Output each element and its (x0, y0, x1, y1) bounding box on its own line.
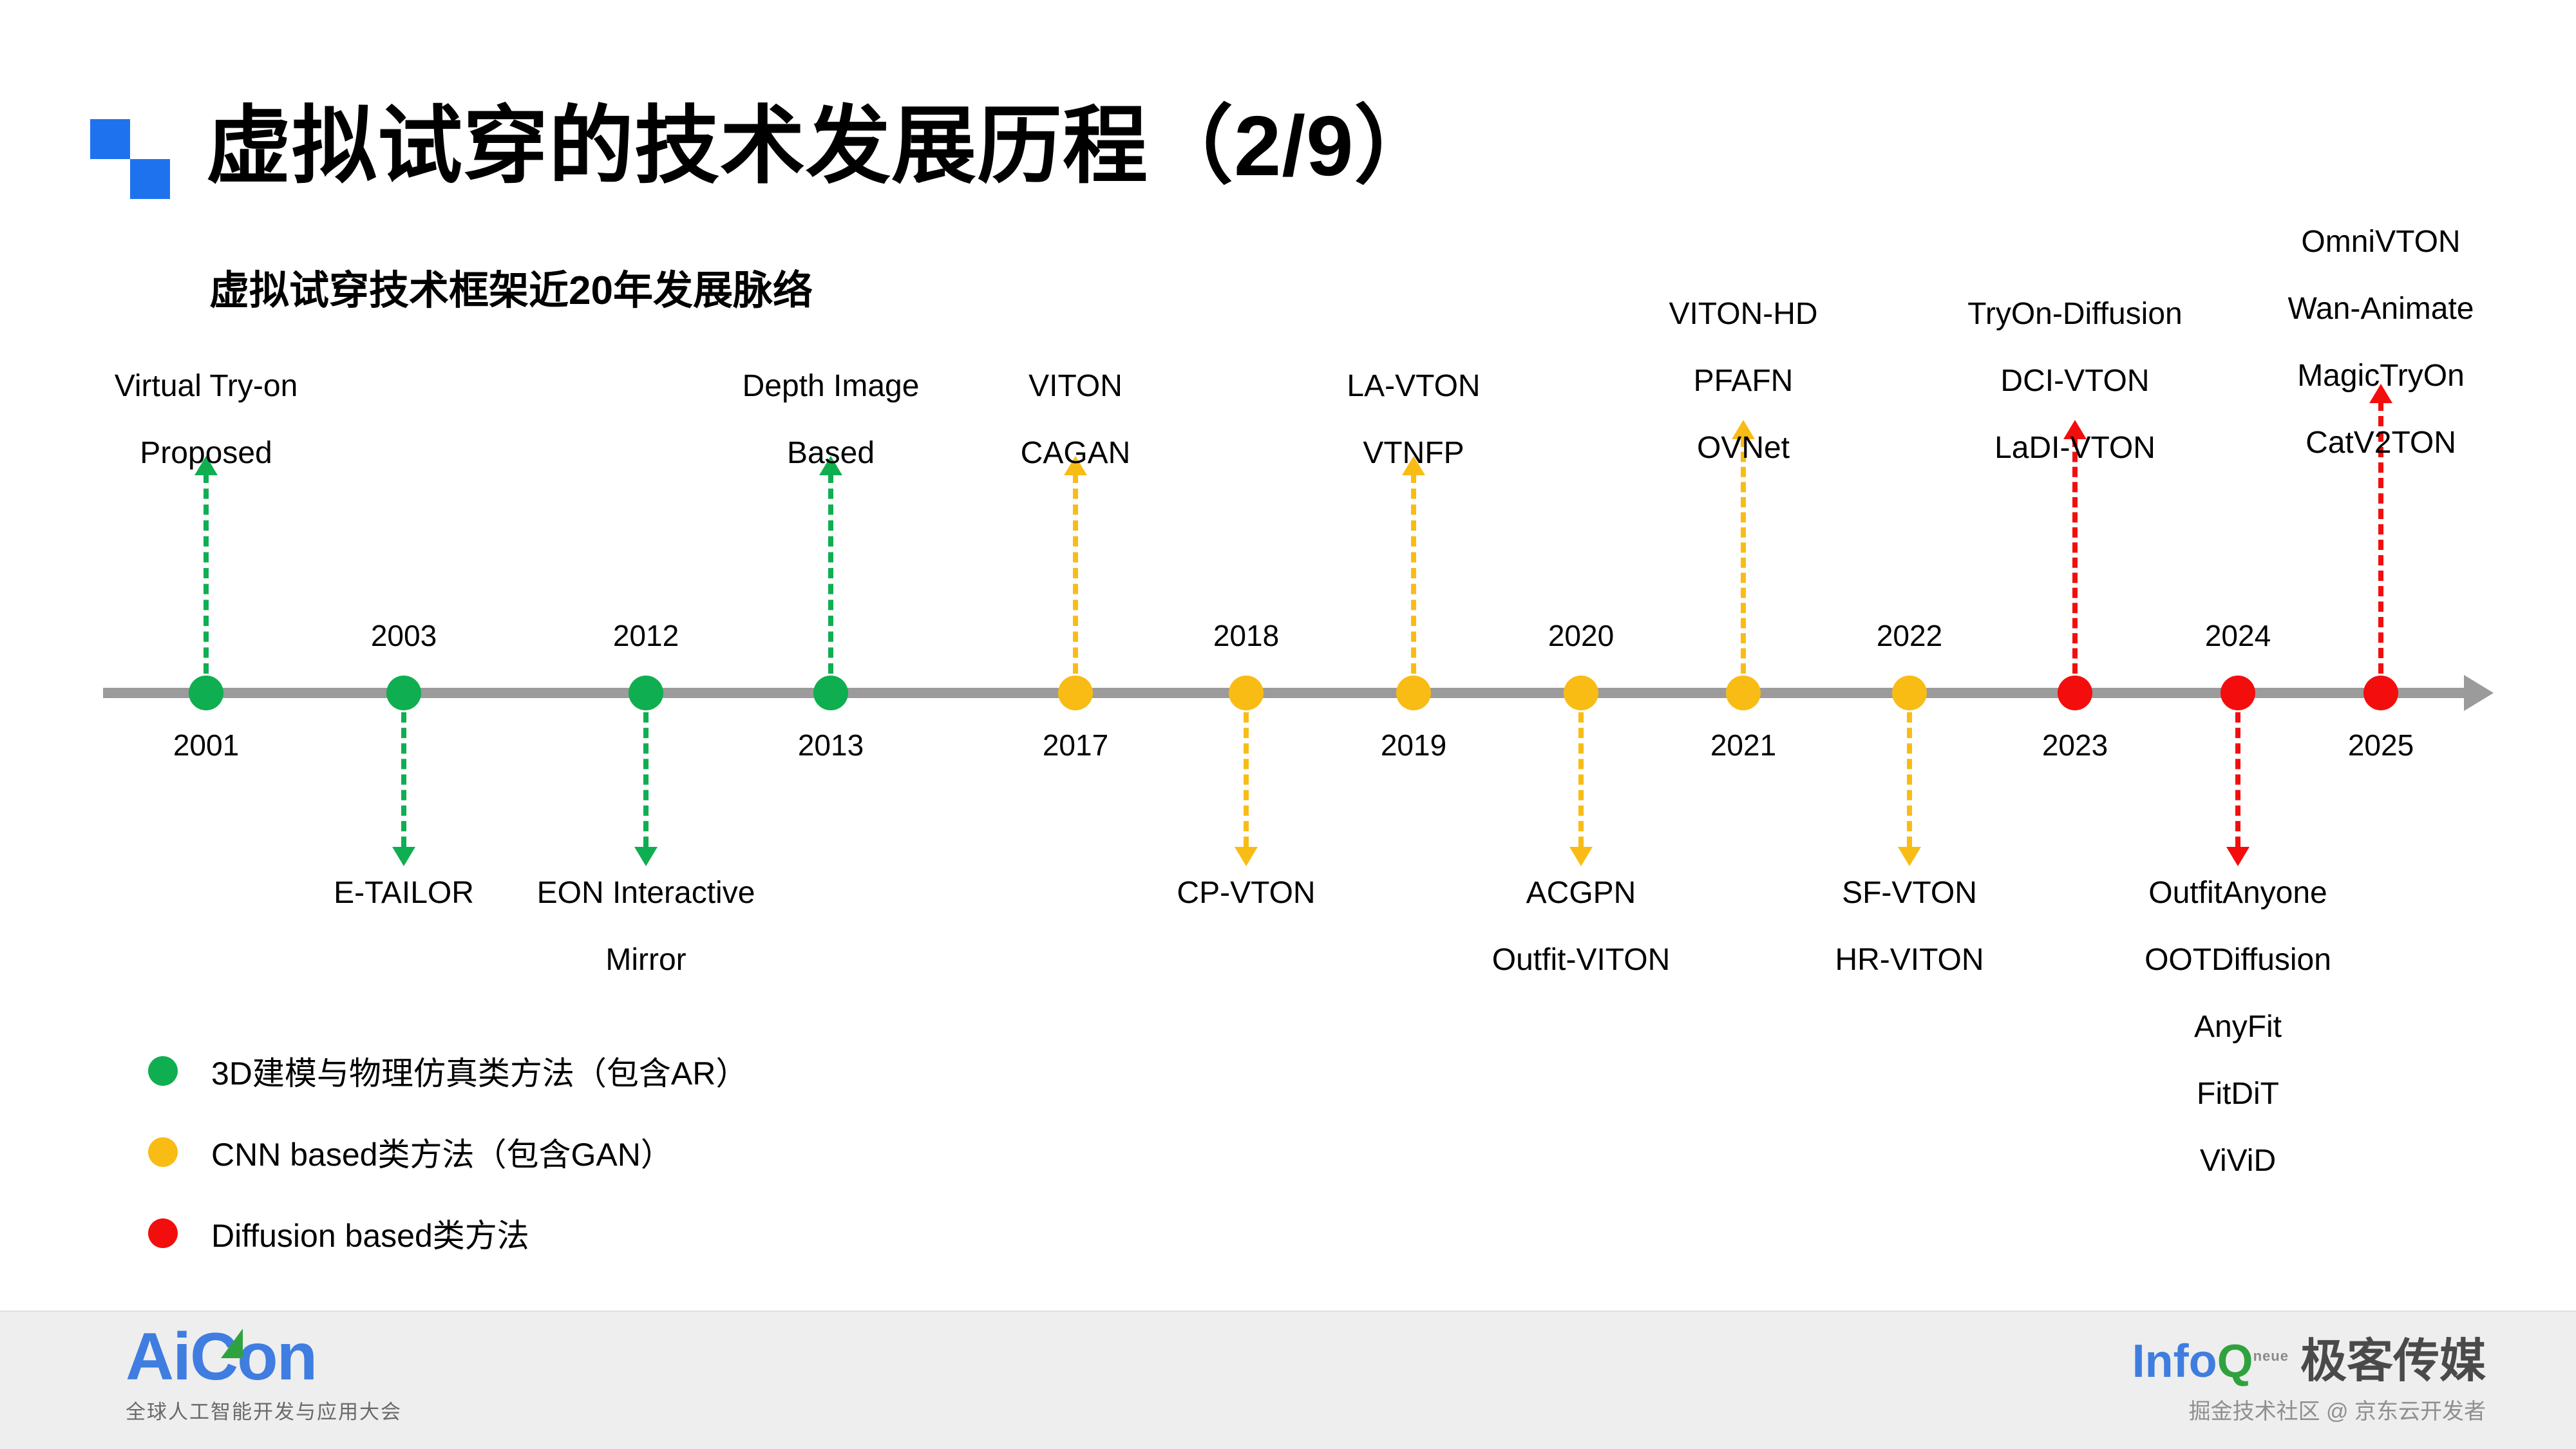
infoq-logo-cn-text: 极客传媒 (2300, 1336, 2486, 1387)
aicon-logo-text: AiCon (126, 1320, 316, 1394)
timeline-connector-up-2013 (828, 473, 833, 674)
timeline-connector-down-2018 (1244, 712, 1249, 847)
timeline-dot-2003[interactable] (386, 676, 421, 710)
infoq-logo-wordmark: InfoQneue极客传媒 (2132, 1338, 2486, 1385)
timeline-label-group-above-2013: Depth ImageBased (743, 371, 920, 469)
timeline-label: CP-VTON (1177, 878, 1315, 909)
timeline-arrowhead-down-2024 (2226, 847, 2249, 866)
infoq-logo-q-text: Q (2217, 1336, 2253, 1387)
timeline-year-label-2025: 2025 (2348, 728, 2414, 762)
timeline-label: VITON-HD (1669, 299, 1817, 330)
timeline-label: Depth Image (743, 371, 920, 402)
infoq-sub-caption: 掘金技术社区 @ 京东云开发者 (2132, 1394, 2486, 1425)
timeline-label-group-below-2003: E-TAILOR (334, 878, 474, 909)
legend-dot-red-icon (148, 1218, 178, 1248)
timeline-year-label-2021: 2021 (1710, 728, 1776, 762)
timeline-connector-down-2012 (643, 712, 649, 847)
timeline-label: HR-VITON (1835, 945, 1984, 976)
timeline-label: SF-VTON (1835, 878, 1984, 909)
timeline-year-label-2012: 2012 (613, 618, 679, 653)
timeline-arrowhead-down-2018 (1235, 847, 1258, 866)
timeline-connector-up-2017 (1073, 473, 1078, 674)
infoq-logo: InfoQneue极客传媒 掘金技术社区 @ 京东云开发者 (2132, 1338, 2486, 1425)
legend-label: 3D建模与物理仿真类方法（包含AR） (211, 1048, 748, 1094)
timeline-label-group-below-2024: OutfitAnyoneOOTDiffusionAnyFitFitDiTViVi… (2145, 878, 2331, 1177)
page-subtitle: 虚拟试穿技术框架近20年发展脉络 (209, 258, 813, 316)
timeline-label: Outfit-VITON (1492, 945, 1671, 976)
timeline-connector-down-2003 (401, 712, 406, 847)
timeline-label-group-above-2023: TryOn-DiffusionDCI-VTONLaDI-VTON (1967, 299, 2182, 464)
timeline-year-label-2019: 2019 (1381, 728, 1446, 762)
timeline-label-group-below-2022: SF-VTONHR-VITON (1835, 878, 1984, 976)
infoq-logo-superscript: neue (2253, 1348, 2289, 1364)
timeline-label-group-below-2012: EON InteractiveMirror (537, 878, 755, 976)
timeline-label: Proposed (115, 438, 298, 469)
timeline-dot-2017[interactable] (1058, 676, 1093, 710)
timeline-arrowhead-down-2012 (634, 847, 658, 866)
timeline-connector-down-2022 (1907, 712, 1912, 847)
timeline-label: E-TAILOR (334, 878, 474, 909)
aicon-logo: AiCon 全球人工智能开发与应用大会 (126, 1323, 402, 1425)
timeline-label: FitDiT (2145, 1079, 2331, 1110)
timeline-year-label-2003: 2003 (371, 618, 437, 653)
timeline-label-group-above-2025: OmniVTONWan-AnimateMagicTryOnCatV2TON (2288, 227, 2474, 459)
legend-item-green: 3D建模与物理仿真类方法（包含AR） (148, 1030, 748, 1112)
timeline-connector-up-2023 (2072, 437, 2078, 674)
timeline-label: OVNet (1669, 433, 1817, 464)
timeline-connector-down-2020 (1578, 712, 1584, 847)
timeline-label: LA-VTON (1347, 371, 1480, 402)
timeline-dot-2013[interactable] (813, 676, 848, 710)
timeline-label: OOTDiffusion (2145, 945, 2331, 976)
brand-square-logo-icon (90, 119, 174, 196)
timeline-year-label-2024: 2024 (2205, 618, 2271, 653)
timeline-label-group-below-2020: ACGPNOutfit-VITON (1492, 878, 1671, 976)
timeline-label-group-above-2019: LA-VTONVTNFP (1347, 371, 1480, 469)
aicon-tagline: 全球人工智能开发与应用大会 (126, 1396, 402, 1425)
logo-square-bottom (130, 159, 170, 199)
timeline-label-group-above-2021: VITON-HDPFAFNOVNet (1669, 299, 1817, 464)
timeline-label-group-above-2001: Virtual Try-onProposed (115, 371, 298, 469)
timeline-connector-up-2021 (1741, 437, 1746, 674)
legend: 3D建模与物理仿真类方法（包含AR）CNN based类方法（包含GAN）Dif… (148, 1030, 748, 1274)
timeline-year-label-2001: 2001 (173, 728, 239, 762)
slide-root: 虚拟试穿的技术发展历程（2/9） 虚拟试穿技术框架近20年发展脉络 2001Vi… (0, 0, 2576, 1449)
timeline-label: OmniVTON (2288, 227, 2474, 258)
timeline-year-label-2022: 2022 (1877, 618, 1942, 653)
timeline-label: PFAFN (1669, 366, 1817, 397)
timeline-label: Wan-Animate (2288, 294, 2474, 325)
timeline-label: VTNFP (1347, 438, 1480, 469)
timeline-label: CatV2TON (2288, 428, 2474, 459)
timeline-dot-2023[interactable] (2058, 676, 2092, 710)
timeline-dot-2020[interactable] (1564, 676, 1598, 710)
timeline-year-label-2017: 2017 (1043, 728, 1108, 762)
timeline-label: Virtual Try-on (115, 371, 298, 402)
timeline-connector-up-2019 (1411, 473, 1416, 674)
timeline-dot-2012[interactable] (629, 676, 663, 710)
timeline-dot-2024[interactable] (2221, 676, 2255, 710)
timeline-dot-2019[interactable] (1396, 676, 1431, 710)
timeline-arrowhead-down-2022 (1898, 847, 1921, 866)
timeline-label: DCI-VTON (1967, 366, 2182, 397)
timeline-axis-arrow-icon (2464, 675, 2494, 711)
legend-label: Diffusion based类方法 (211, 1210, 529, 1256)
timeline-label: Based (743, 438, 920, 469)
timeline-axis (103, 688, 2473, 698)
timeline-label: EON Interactive (537, 878, 755, 909)
legend-dot-green-icon (148, 1056, 178, 1086)
timeline-arrowhead-down-2003 (392, 847, 415, 866)
timeline-connector-up-2001 (204, 473, 209, 674)
page-title: 虚拟试穿的技术发展历程（2/9） (206, 77, 1440, 200)
timeline-label: MagicTryOn (2288, 361, 2474, 392)
timeline-label: CAGAN (1021, 438, 1131, 469)
timeline-label: ACGPN (1492, 878, 1671, 909)
aicon-logo-wordmark: AiCon (126, 1323, 402, 1390)
legend-dot-yellow-icon (148, 1137, 178, 1167)
timeline-label-group-below-2018: CP-VTON (1177, 878, 1315, 909)
timeline-dot-2018[interactable] (1229, 676, 1264, 710)
timeline-connector-down-2024 (2235, 712, 2240, 847)
timeline-label: TryOn-Diffusion (1967, 299, 2182, 330)
legend-item-red: Diffusion based类方法 (148, 1193, 748, 1274)
timeline-dot-2025[interactable] (2363, 676, 2398, 710)
legend-item-yellow: CNN based类方法（包含GAN） (148, 1112, 748, 1193)
logo-square-top (90, 119, 130, 159)
infoq-logo-info-text: Info (2132, 1336, 2217, 1387)
timeline-year-label-2020: 2020 (1548, 618, 1614, 653)
timeline-year-label-2013: 2013 (798, 728, 864, 762)
timeline-label-group-above-2017: VITONCAGAN (1021, 371, 1131, 469)
timeline-label: VITON (1021, 371, 1131, 402)
timeline-label: Mirror (537, 945, 755, 976)
timeline-label: ViViD (2145, 1146, 2331, 1177)
timeline-label: LaDI-VTON (1967, 433, 2182, 464)
timeline-dot-2021[interactable] (1726, 676, 1761, 710)
timeline-label: OutfitAnyone (2145, 878, 2331, 909)
legend-label: CNN based类方法（包含GAN） (211, 1129, 673, 1175)
timeline-year-label-2023: 2023 (2042, 728, 2108, 762)
timeline-dot-2001[interactable] (189, 676, 223, 710)
timeline-year-label-2018: 2018 (1213, 618, 1279, 653)
timeline-label: AnyFit (2145, 1012, 2331, 1043)
timeline-arrowhead-down-2020 (1569, 847, 1593, 866)
timeline-dot-2022[interactable] (1892, 676, 1927, 710)
